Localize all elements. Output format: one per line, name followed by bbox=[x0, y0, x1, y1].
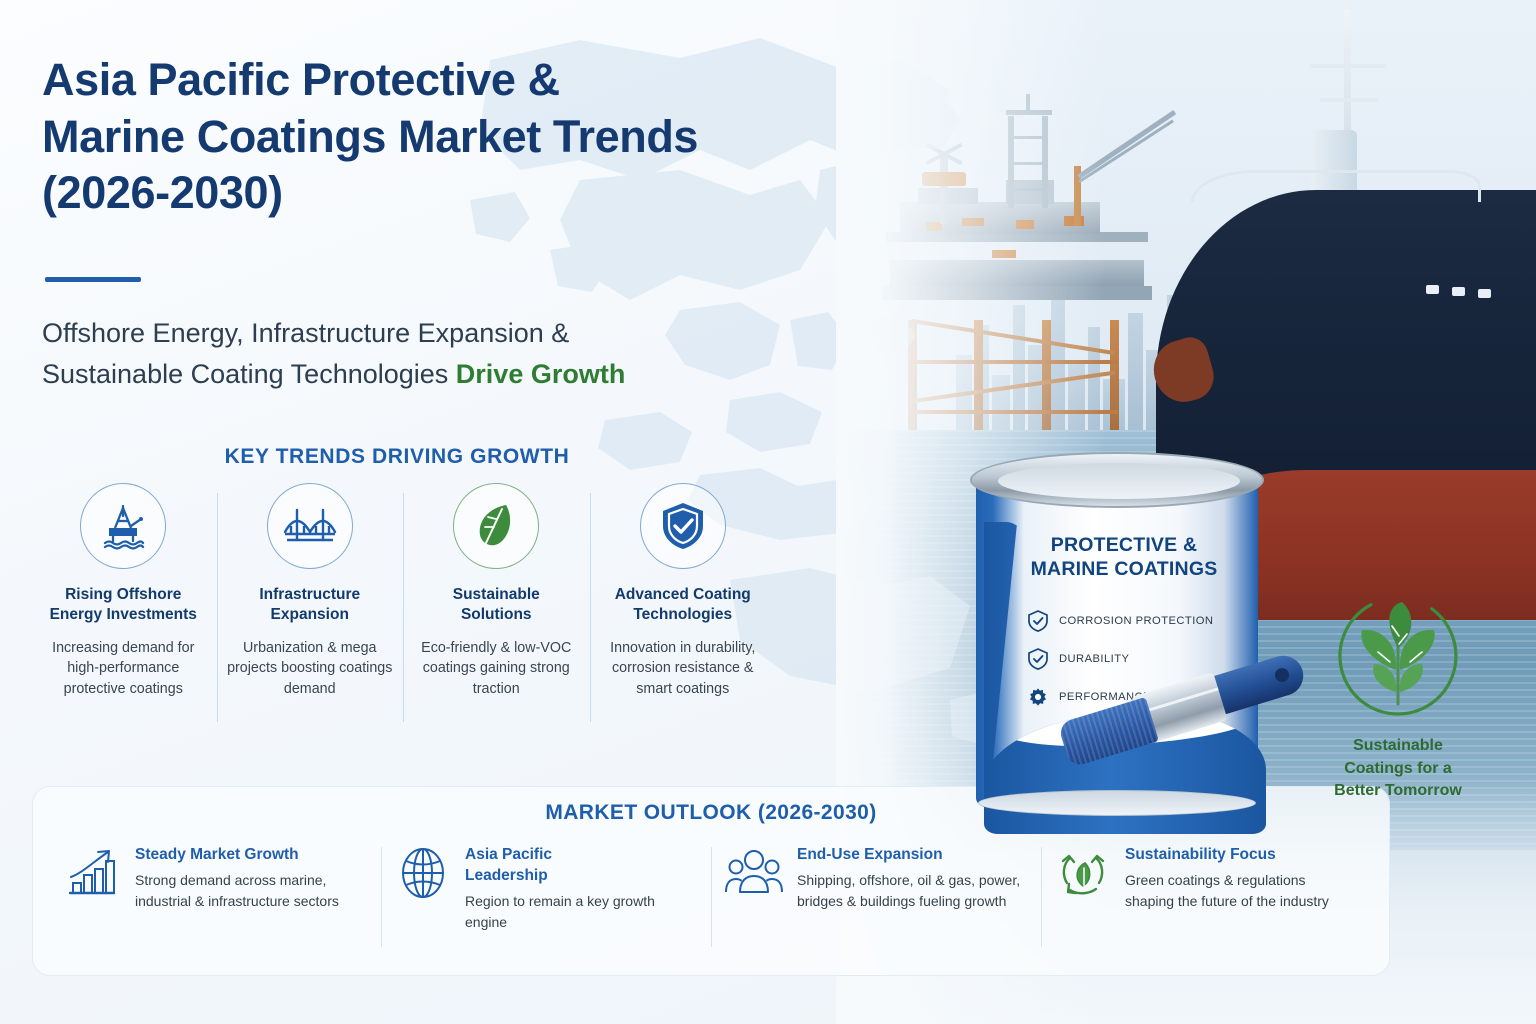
can-feature-label: CORROSION PROTECTION bbox=[1059, 615, 1213, 627]
gear-icon bbox=[1028, 686, 1048, 708]
can-label-title: PROTECTIVE & MARINE COATINGS bbox=[1026, 534, 1222, 582]
key-trend-title-line2: Expansion bbox=[259, 605, 360, 625]
people-group-icon bbox=[725, 843, 783, 899]
key-trends-row: Rising Offshore Energy Investments Incre… bbox=[30, 483, 776, 738]
key-trend-title: Infrastructure Expansion bbox=[259, 585, 360, 626]
outlook-description: Strong demand across marine, industrial … bbox=[135, 870, 367, 913]
key-trend-description: Urbanization & mega projects boosting co… bbox=[225, 638, 396, 699]
can-title-line1: PROTECTIVE & bbox=[1026, 534, 1222, 558]
can-feature-item: CORROSION PROTECTION bbox=[1028, 610, 1213, 632]
subtitle-line-1: Offshore Energy, Infrastructure Expansio… bbox=[42, 313, 762, 354]
paint-can-lid-inner bbox=[998, 463, 1240, 499]
sustainable-badge-line3: Better Tomorrow bbox=[1300, 780, 1496, 803]
key-trend-title-line2: Energy Investments bbox=[50, 605, 197, 625]
title-line-1: Asia Pacific Protective & bbox=[42, 52, 862, 109]
title-line-3: (2026-2030) bbox=[42, 165, 862, 222]
outlook-description: Green coatings & regulations shaping the… bbox=[1125, 870, 1357, 913]
key-trend-card-sustainable[interactable]: Sustainable Solutions Eco-friendly & low… bbox=[403, 483, 590, 738]
key-trend-title-line1: Sustainable bbox=[453, 585, 540, 605]
bridge-icon bbox=[267, 483, 353, 569]
key-trend-description: Innovation in durability, corrosion resi… bbox=[598, 638, 769, 699]
outlook-title-line2: Leadership bbox=[465, 866, 697, 887]
key-trend-title-line2: Solutions bbox=[453, 605, 540, 625]
outlook-title: End-Use Expansion bbox=[797, 845, 1027, 866]
subtitle-accent-text: Drive Growth bbox=[456, 359, 626, 389]
sustainable-badge-text: Sustainable Coatings for a Better Tomorr… bbox=[1300, 735, 1496, 803]
outlook-title: Steady Market Growth bbox=[135, 845, 367, 866]
infographic-canvas: Asia Pacific Protective & Marine Coating… bbox=[0, 0, 1536, 1024]
sustainable-badge: Sustainable Coatings for a Better Tomorr… bbox=[1300, 592, 1496, 803]
key-trend-title: Sustainable Solutions bbox=[453, 585, 540, 626]
globe-icon bbox=[395, 843, 451, 899]
key-trend-title: Rising Offshore Energy Investments bbox=[50, 585, 197, 626]
paint-can-lid bbox=[970, 452, 1264, 508]
outlook-card-asia-pacific[interactable]: Asia Pacific Leadership Region to remain… bbox=[381, 843, 711, 961]
key-trends-heading: KEY TRENDS DRIVING GROWTH bbox=[42, 445, 752, 469]
subtitle-line-2: Sustainable Coating Technologies Drive G… bbox=[42, 354, 762, 395]
key-trend-description: Eco-friendly & low-VOC coatings gaining … bbox=[411, 638, 582, 699]
title-divider-rule bbox=[45, 277, 141, 282]
outlook-card-end-use[interactable]: End-Use Expansion Shipping, offshore, oi… bbox=[711, 843, 1041, 961]
key-trend-title-line1: Infrastructure bbox=[259, 585, 360, 605]
can-title-line2: MARINE COATINGS bbox=[1026, 558, 1222, 582]
brush-bristles bbox=[1057, 697, 1158, 768]
leaf-icon bbox=[453, 483, 539, 569]
key-trend-title-line1: Rising Offshore bbox=[50, 585, 197, 605]
outlook-title-line1: Asia Pacific bbox=[465, 845, 697, 866]
key-trend-title-line2: Technologies bbox=[615, 605, 751, 625]
key-trend-title: Advanced Coating Technologies bbox=[615, 585, 751, 626]
market-outlook-row: Steady Market Growth Strong demand acros… bbox=[51, 843, 1371, 961]
key-trend-card-offshore[interactable]: Rising Offshore Energy Investments Incre… bbox=[30, 483, 217, 738]
page-title: Asia Pacific Protective & Marine Coating… bbox=[42, 52, 862, 222]
key-trend-card-advanced[interactable]: Advanced Coating Technologies Innovation… bbox=[590, 483, 777, 738]
outlook-title: Asia Pacific Leadership bbox=[465, 845, 697, 887]
sustainable-badge-line2: Coatings for a bbox=[1300, 758, 1496, 781]
outlook-title: Sustainability Focus bbox=[1125, 845, 1357, 866]
key-trend-description: Increasing demand for high-performance p… bbox=[38, 638, 209, 699]
key-trend-card-infrastructure[interactable]: Infrastructure Expansion Urbanization & … bbox=[217, 483, 404, 738]
key-trend-title-line1: Advanced Coating bbox=[615, 585, 751, 605]
outlook-description: Region to remain a key growth engine bbox=[465, 891, 697, 934]
outlook-description: Shipping, offshore, oil & gas, power, br… bbox=[797, 870, 1027, 913]
title-line-2: Marine Coatings Market Trends bbox=[42, 109, 862, 166]
can-feature-label: DURABILITY bbox=[1059, 653, 1129, 665]
can-feature-item: DURABILITY bbox=[1028, 648, 1129, 670]
sustainable-badge-line1: Sustainable bbox=[1300, 735, 1496, 758]
recycle-leaf-icon bbox=[1055, 843, 1111, 899]
page-subtitle: Offshore Energy, Infrastructure Expansio… bbox=[42, 313, 762, 395]
shield-check-icon bbox=[640, 483, 726, 569]
outlook-card-sustainability[interactable]: Sustainability Focus Green coatings & re… bbox=[1041, 843, 1371, 961]
outlook-card-steady-growth[interactable]: Steady Market Growth Strong demand acros… bbox=[51, 843, 381, 961]
plant-leaves-icon bbox=[1332, 592, 1464, 718]
offshore-rig-icon bbox=[80, 483, 166, 569]
growth-chart-icon bbox=[65, 843, 121, 899]
shield-check-icon bbox=[1028, 610, 1048, 632]
subtitle-plain-text: Sustainable Coating Technologies bbox=[42, 359, 456, 389]
shield-check-icon bbox=[1028, 648, 1048, 670]
